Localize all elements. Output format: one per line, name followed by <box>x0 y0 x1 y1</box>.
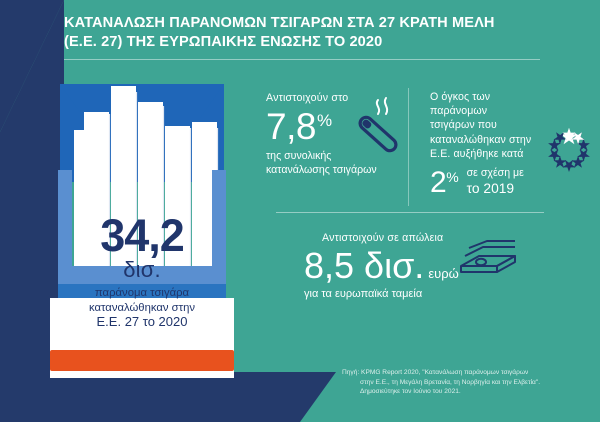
cigarette-icon <box>352 96 404 154</box>
title-line-2: (Ε.Ε. 27) ΤΗΣ ΕΥΡΩΠΑΙΚΗΣ ΕΝΩΣΗΣ ΤΟ 2020 <box>64 33 574 52</box>
volume-percent-symbol: % <box>446 169 458 185</box>
euro-currency: ευρώ <box>428 266 458 281</box>
volume-line-4: καταναλώθηκαν στην <box>430 133 546 147</box>
percent-value: 7,8 <box>266 106 316 147</box>
volume-line-5: Ε.Ε. αυξήθηκε κατά <box>430 147 546 161</box>
infographic-canvas: ΚΑΤΑΝΑΛΩΣΗ ΠΑΡΑΝΟΜΩΝ ΤΣΙΓΑΡΩΝ ΣΤΑ 27 ΚΡΑ… <box>0 0 600 422</box>
pack-description: παράνομα τσιγάρα καταναλώθηκαν στην Ε.Ε.… <box>44 286 240 330</box>
money-stack-icon <box>457 240 519 284</box>
source-line-1: Πηγή: KPMG Report 2020, "Κατανάλωση παρά… <box>342 368 592 378</box>
vertical-divider <box>408 88 409 206</box>
pack-value: 34,2 <box>44 212 240 260</box>
percent-sub-line-2: κατανάλωσης τσιγάρων <box>266 164 406 178</box>
pack-statistic: 34,2 δισ. παράνομα τσιγάρα καταναλώθηκαν… <box>44 212 240 330</box>
volume-note-line-1: σε σχέση με <box>467 167 524 181</box>
euro-value: 8,5 <box>304 246 354 286</box>
volume-line-3: τσιγάρων που <box>430 118 546 132</box>
page-title: ΚΑΤΑΝΑΛΩΣΗ ΠΑΡΑΝΟΜΩΝ ΤΣΙΓΑΡΩΝ ΣΤΑ 27 ΚΡΑ… <box>64 14 574 60</box>
source-line-3: Δημοσιεύτηκε τον Ιούνιο του 2021. <box>342 387 592 397</box>
pack-desc-line-3: Ε.Ε. 27 το 2020 <box>44 315 240 330</box>
horizontal-divider <box>276 212 544 213</box>
percent-symbol: % <box>317 111 332 131</box>
volume-line-1: Ο όγκος των <box>430 90 546 104</box>
title-line-1: ΚΑΤΑΝΑΛΩΣΗ ΠΑΡΑΝΟΜΩΝ ΤΣΙΓΑΡΩΝ ΣΤΑ 27 ΚΡΑ… <box>64 14 574 33</box>
pack-unit: δισ. <box>44 258 240 282</box>
pack-desc-line-2: καταναλώθηκαν στην <box>44 301 240 316</box>
volume-line-2: παράνομων <box>430 104 546 118</box>
volume-note-line-2: το 2019 <box>467 181 524 197</box>
euro-unit: δισ. <box>364 246 424 286</box>
source-line-2: στην Ε.Ε., τη Μεγάλη Βρετανία, τη Νορβηγ… <box>342 378 592 388</box>
volume-percent-row: 2 % σε σχέση με το 2019 <box>430 166 524 199</box>
pack-desc-line-1: παράνομα τσιγάρα <box>44 286 240 301</box>
volume-statistic: Ο όγκος των παράνομων τσιγάρων που καταν… <box>430 90 546 161</box>
volume-percent-note: σε σχέση με το 2019 <box>467 167 524 197</box>
source-note: Πηγή: KPMG Report 2020, "Κατανάλωση παρά… <box>342 368 592 397</box>
volume-percent-value: 2 <box>430 166 446 199</box>
eu-stars-icon <box>541 126 597 182</box>
title-underline <box>64 59 540 60</box>
euro-sub-text: για τα ευρωπαϊκά ταμεία <box>304 287 554 301</box>
